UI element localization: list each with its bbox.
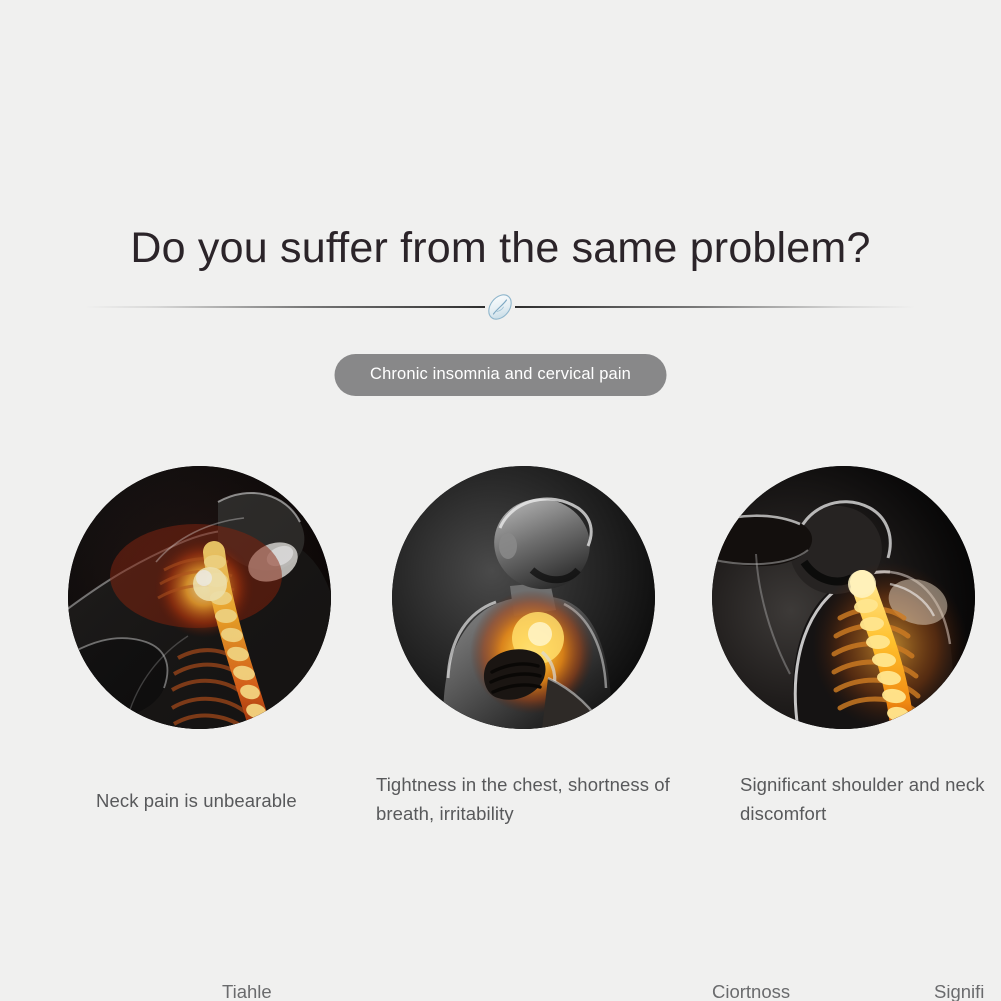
clipped-text-fragment: Tiahle	[222, 985, 272, 1001]
card-caption: Significant shoulder and neck discomfort	[740, 771, 990, 828]
section-divider	[85, 290, 915, 324]
chest-pain-photo	[392, 466, 655, 729]
leaf-icon	[478, 290, 522, 324]
neck-spine-xray-photo	[68, 466, 331, 729]
shoulder-spine-xray-photo	[712, 466, 975, 729]
status-badge: Chronic insomnia and cervical pain	[334, 354, 667, 396]
symptom-card[interactable]: Significant shoulder and neck discomfort	[712, 466, 990, 828]
symptom-cards-row: Neck pain is unbearable	[0, 466, 1001, 886]
page-root: Do you suffer from the same problem? Chr…	[0, 0, 1001, 1001]
divider-line-right	[515, 306, 915, 308]
card-caption: Tightness in the chest, shortness of bre…	[376, 771, 686, 828]
symptom-card[interactable]: Tightness in the chest, shortness of bre…	[392, 466, 686, 828]
clipped-text-fragment: Ciortnoss	[712, 985, 790, 1001]
clipped-text-fragment: Signifi	[934, 985, 984, 1001]
symptom-card[interactable]: Neck pain is unbearable	[68, 466, 366, 816]
page-title: Do you suffer from the same problem?	[0, 225, 1001, 272]
divider-line-left	[85, 306, 485, 308]
clipped-bottom-row: Tiahle Ciortnoss Signifi	[0, 985, 1001, 1001]
card-caption: Neck pain is unbearable	[96, 787, 366, 816]
